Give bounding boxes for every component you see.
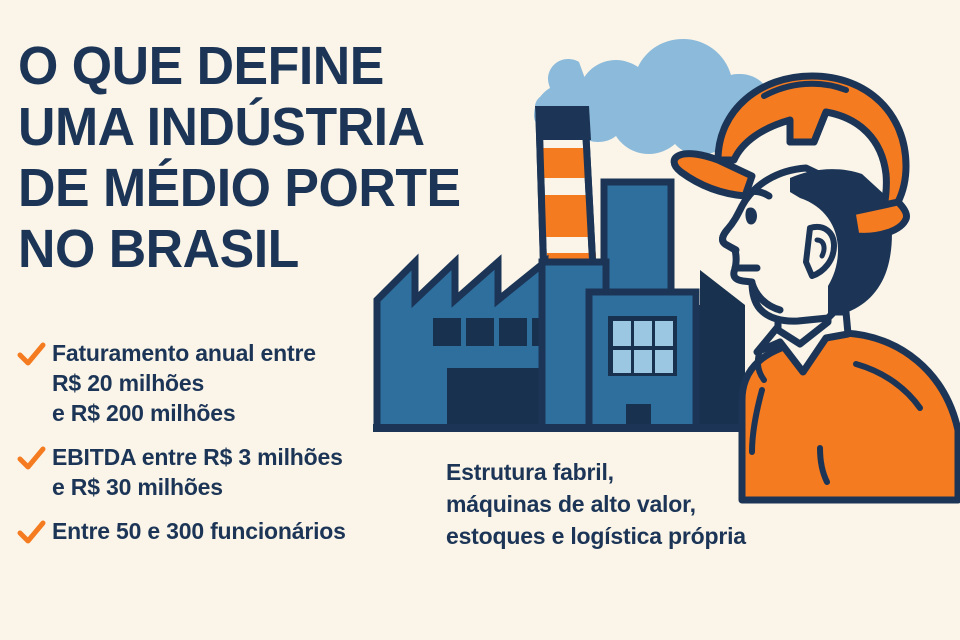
factory-window bbox=[433, 318, 461, 346]
headline-line-2: UMA INDÚSTRIA bbox=[18, 97, 517, 158]
window-pane bbox=[613, 321, 631, 346]
window-pane bbox=[655, 321, 673, 346]
factory-window bbox=[466, 318, 494, 346]
headline-line-4: NO BRASIL bbox=[18, 219, 517, 280]
list-item: EBITDA entre R$ 3 milhões e R$ 30 milhõe… bbox=[16, 442, 426, 502]
list-item: Faturamento anual entre R$ 20 milhões e … bbox=[16, 338, 426, 428]
list-item: Entre 50 e 300 funcionários bbox=[16, 516, 426, 548]
check-icon bbox=[16, 518, 46, 548]
list-item-label: Entre 50 e 300 funcionários bbox=[52, 516, 346, 546]
window-pane bbox=[655, 350, 673, 373]
page-title: O QUE DEFINE UMA INDÚSTRIA DE MÉDIO PORT… bbox=[18, 36, 538, 280]
window-pane bbox=[613, 350, 631, 373]
list-item-label: Faturamento anual entre R$ 20 milhões e … bbox=[52, 338, 316, 428]
factory-side-building bbox=[589, 292, 696, 428]
check-icon bbox=[16, 444, 46, 474]
factory-window bbox=[499, 318, 527, 346]
check-icon bbox=[16, 340, 46, 370]
window-pane bbox=[634, 321, 652, 346]
factory-garage-door bbox=[447, 368, 546, 428]
headline-line-3: DE MÉDIO PORTE bbox=[18, 158, 517, 219]
window-pane bbox=[634, 350, 652, 373]
headline-line-1: O QUE DEFINE bbox=[18, 36, 517, 97]
ground-line bbox=[373, 424, 773, 432]
caption-text: Estrutura fabril, máquinas de alto valor… bbox=[446, 456, 746, 552]
list-item-label: EBITDA entre R$ 3 milhões e R$ 30 milhõe… bbox=[52, 442, 343, 502]
infographic-poster: O QUE DEFINE UMA INDÚSTRIA DE MÉDIO PORT… bbox=[0, 0, 960, 640]
criteria-list: Faturamento anual entre R$ 20 milhões e … bbox=[16, 338, 426, 562]
